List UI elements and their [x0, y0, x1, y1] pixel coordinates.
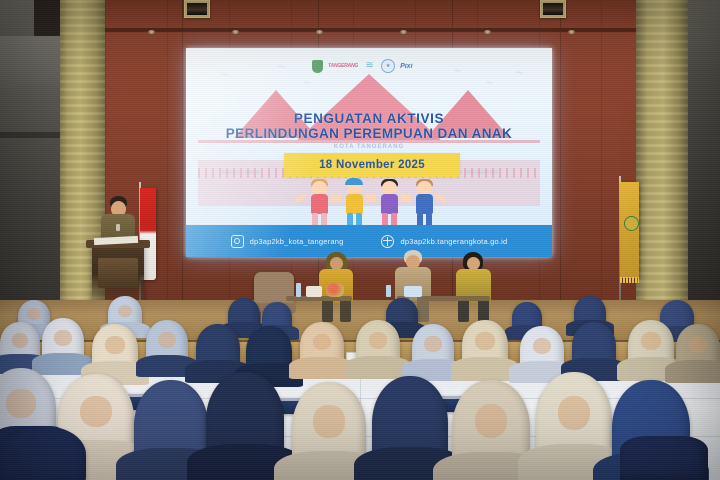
ledge-light — [484, 30, 491, 34]
audience-member-front — [372, 376, 448, 474]
screen-glare — [186, 48, 421, 257]
audience-member — [228, 298, 260, 332]
audience-member — [520, 326, 564, 374]
audience-member-front — [0, 426, 86, 480]
ledge-light — [400, 30, 407, 34]
audience-member — [92, 324, 138, 376]
ledge-light — [232, 30, 239, 34]
ledge-light — [568, 30, 575, 34]
ledge-light — [148, 30, 155, 34]
bird-icon: 〜 — [454, 66, 461, 76]
wall-ledge-face — [105, 30, 636, 41]
audience-member — [146, 320, 188, 368]
audience-member — [196, 324, 240, 374]
audience-member — [42, 318, 84, 366]
wall-seam — [182, 0, 183, 305]
right-dark-wall — [688, 0, 720, 300]
audience-member — [300, 322, 344, 370]
left-gray-wall-panel — [0, 36, 60, 301]
wall-seam — [560, 0, 561, 305]
pixi-brand-logo: Pixi — [400, 60, 412, 73]
audience-member — [462, 320, 508, 372]
audience-area — [0, 276, 720, 480]
projection-screen: 〜 〜 〜 〜 〜 〜 NARASUMBER MATERI KOTA TANGE… — [186, 48, 552, 257]
wall-band — [0, 132, 60, 138]
audience-member — [572, 322, 616, 372]
ceremonial-gold-flag — [620, 182, 639, 278]
event-photo-scene: 〜 〜 〜 〜 〜 〜 NARASUMBER MATERI KOTA TANGE… — [0, 0, 720, 480]
audience-member — [246, 326, 292, 378]
bird-icon: 〜 — [516, 68, 523, 78]
audience-member — [356, 320, 400, 370]
flag-emblem — [624, 216, 639, 231]
audience-member — [676, 324, 720, 374]
website-url-text: dp3ap2kb.tangerangkota.go.id — [400, 237, 507, 246]
right-pillar — [636, 0, 688, 320]
audience-member — [412, 324, 454, 372]
audience-uniform-vest — [620, 436, 708, 480]
framed-picture — [540, 0, 566, 18]
audience-member-front — [536, 372, 612, 472]
framed-picture — [184, 0, 210, 18]
audience-member-front — [206, 372, 284, 472]
ledge-light — [316, 30, 323, 34]
